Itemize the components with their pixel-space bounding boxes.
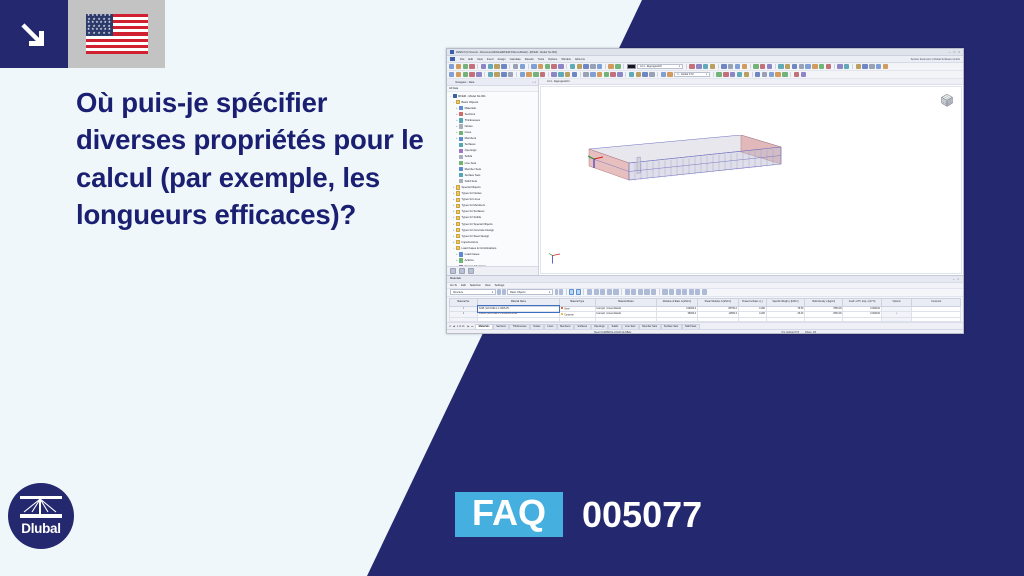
toolbar-button[interactable] <box>597 72 602 77</box>
toolbar-button[interactable] <box>533 72 538 77</box>
concrete-color-chip <box>561 313 564 316</box>
workspace-tab-icon <box>542 80 545 83</box>
menu-item-results[interactable]: Results <box>525 58 534 61</box>
chevron-down-icon[interactable]: ▾ <box>706 73 707 76</box>
table-tab-surfaces[interactable]: Surfaces <box>574 324 591 329</box>
workspace: LC1 - Eigengewicht <box>539 79 963 275</box>
navigator-footer[interactable] <box>447 266 538 275</box>
status-coordinate-system: CS: Global XYZ <box>781 331 799 334</box>
toolbar-button[interactable] <box>531 64 536 69</box>
toolbar-button[interactable] <box>636 72 641 77</box>
main-toolbar-row-1[interactable]: LC1 - Eigengewicht▾ <box>447 63 963 71</box>
toolbar-button[interactable] <box>762 72 767 77</box>
toolbar-button[interactable] <box>869 64 874 69</box>
col-material-model[interactable]: Material Model <box>595 298 656 306</box>
toolbar-separator <box>752 72 753 78</box>
toolbar-button[interactable] <box>753 64 758 69</box>
chevron-down-icon[interactable]: ▾ <box>492 291 493 294</box>
toolbar-button[interactable] <box>767 64 772 69</box>
status-plane: Plane: XZ <box>805 331 816 334</box>
toolbar-button[interactable] <box>520 64 525 69</box>
toolbar-button[interactable] <box>449 64 454 69</box>
toolbar-button[interactable] <box>826 64 831 69</box>
table-tab-line-sets[interactable]: Line Sets <box>622 324 639 329</box>
toolbar-button[interactable] <box>742 64 747 69</box>
status-addons: Steel CAD/BIM E-LOAD GLOBAL <box>594 331 632 334</box>
toolbar-button[interactable] <box>667 72 672 77</box>
folder-node-icon <box>456 185 460 189</box>
toolbar-separator <box>657 72 658 78</box>
toolbar-button[interactable] <box>799 64 804 69</box>
folder-node-icon <box>456 204 460 208</box>
toolbar-separator <box>605 64 606 70</box>
minimize-button[interactable]: – <box>949 50 951 54</box>
toolbar-button[interactable] <box>572 72 577 77</box>
toolbar-button[interactable] <box>551 72 556 77</box>
table-tab-solids[interactable]: Solids <box>608 324 622 329</box>
app-node-icon <box>453 94 457 98</box>
toolbar-button[interactable] <box>703 64 708 69</box>
col-comment[interactable]: Comment <box>912 298 961 306</box>
column-layout-icon[interactable] <box>594 289 599 294</box>
toolbar-button[interactable] <box>615 64 620 69</box>
workspace-tab-label[interactable]: LC1 - Eigengewicht <box>547 80 570 83</box>
menu-item-edit[interactable]: Edit <box>468 58 473 61</box>
toolbar-button[interactable] <box>629 72 634 77</box>
folder-node-icon <box>456 198 460 202</box>
folder-node-icon <box>456 191 460 195</box>
app-titlebar: RFEM 6 [C:\Users\...\Documents\Dlubal\RF… <box>447 49 963 56</box>
toolbar-button[interactable] <box>469 64 474 69</box>
toolbar-button[interactable] <box>456 72 461 77</box>
toolbar-button[interactable] <box>520 72 525 77</box>
toolbar-separator <box>548 72 549 78</box>
menu-item-file[interactable]: File <box>460 58 464 61</box>
row-layout-icon[interactable] <box>600 289 605 294</box>
table-panel-title-text: Materials <box>450 277 461 280</box>
nav-tree-item-label: Materials <box>465 107 476 110</box>
folder-node-icon <box>456 228 460 232</box>
toolbar-button[interactable] <box>735 64 740 69</box>
nav-tree-item-label: Types for Special Objects <box>461 223 492 226</box>
nav-tree-item-label: Lines <box>465 131 472 134</box>
dlubal-truss-icon <box>20 496 62 518</box>
col-modulus-e[interactable]: Modulus of Elast. E [kN/m²] <box>656 298 697 306</box>
rfem-application-window: RFEM 6 [C:\Users\...\Documents\Dlubal\RF… <box>446 48 964 334</box>
col-material-type[interactable]: Material Type <box>559 298 595 306</box>
view-cube-icon[interactable] <box>938 91 956 109</box>
toolbar-separator <box>713 72 714 78</box>
cell-material-model[interactable] <box>595 317 656 322</box>
color-swatch[interactable] <box>627 64 636 68</box>
toolbar-button[interactable] <box>590 72 595 77</box>
grey-node-icon <box>459 155 463 159</box>
nav-tree-item-label: RFEM - Model No.001 <box>458 95 485 98</box>
cell-material-type[interactable] <box>559 317 595 322</box>
cell-bulk-density[interactable] <box>805 317 843 322</box>
toolbar-button[interactable] <box>508 72 513 77</box>
cell-shear-modulus-g[interactable] <box>697 317 738 322</box>
toolbar-button[interactable] <box>696 64 701 69</box>
toolbar-button[interactable] <box>876 64 881 69</box>
folder-node-icon <box>456 216 460 220</box>
toolbar-button[interactable] <box>737 72 742 77</box>
toolbar-button[interactable] <box>570 64 575 69</box>
table-menu-goto[interactable]: Go To <box>450 284 457 287</box>
table-tab-surface-sets[interactable]: Surface Sets <box>661 324 682 329</box>
toolbar-separator <box>625 72 626 78</box>
nav-tree-item-label: Solid Sets <box>465 180 477 183</box>
toolbar-separator <box>509 64 510 70</box>
load-case-combo[interactable]: LC1 - Eigengewicht▾ <box>637 64 683 69</box>
toolbar-button[interactable] <box>837 64 842 69</box>
table-panel-window-controls[interactable]: ⌁ × <box>953 277 960 281</box>
zoom-selection-icon[interactable] <box>569 289 574 294</box>
materials-table-header-row: Material No. Material Name Material Type… <box>450 298 961 306</box>
menubar-account-text: Section Extension | Dlubal Software GmbH <box>911 58 960 61</box>
autofit-icon[interactable] <box>613 289 618 294</box>
app-menubar[interactable]: File Edit View Insert Assign Calculate R… <box>447 56 963 63</box>
grey-node-icon <box>459 124 463 128</box>
navigator-display-button[interactable] <box>459 268 465 274</box>
help-icon[interactable] <box>702 289 707 294</box>
green-node-icon <box>459 131 463 135</box>
col-material-name[interactable]: Material Name <box>478 298 560 306</box>
toolbar-button[interactable] <box>590 64 595 69</box>
menu-item-assign[interactable]: Assign <box>498 58 506 61</box>
record-nav-arrows[interactable]: ⏮ ◀ <box>449 325 455 328</box>
toolbar-button[interactable] <box>481 64 486 69</box>
col-material-no[interactable]: Material No. <box>450 298 478 306</box>
toolbar-separator <box>566 64 567 70</box>
navigator-subtitle-text: All Data <box>449 87 458 90</box>
toolbar-button[interactable] <box>456 64 461 69</box>
nav-tree-item-label: Surfaces <box>465 143 476 146</box>
toolbar-separator <box>834 64 835 70</box>
toolbar-separator <box>580 72 581 78</box>
table-tab-member-sets[interactable]: Member Sets <box>639 324 661 329</box>
toolbar-button[interactable] <box>494 72 499 77</box>
nav-tree-item-label: Types for Nodes <box>461 192 481 195</box>
toolbar-button[interactable] <box>769 72 774 77</box>
table-panel: Materials ⌁ × Go To Edit Selection View … <box>447 275 963 334</box>
toolbar-button[interactable] <box>463 64 468 69</box>
toolbar-button[interactable] <box>649 72 654 77</box>
move-down-icon[interactable] <box>644 289 649 294</box>
toolbar-button[interactable] <box>760 64 765 69</box>
toolbar-button[interactable] <box>642 72 647 77</box>
folder-node-icon <box>456 210 460 214</box>
object-type-value: Structure <box>453 291 463 294</box>
toolbar-button[interactable] <box>819 64 824 69</box>
nav-tree-item-label: Sections <box>465 113 476 116</box>
table-tab-members[interactable]: Members <box>557 324 574 329</box>
page-title: Où puis-je spécifier diverses propriétés… <box>76 84 426 234</box>
faq-badge: FAQ 005077 <box>455 492 702 537</box>
settings-icon[interactable] <box>676 289 681 294</box>
navigator-pin-close-icons[interactable]: ⌁ × <box>532 81 536 84</box>
collapse-icon[interactable]: − <box>449 95 453 98</box>
col-bulk-density[interactable]: Bulk Density α [kg/m³] <box>805 298 843 306</box>
table-tab-openings[interactable]: Openings <box>591 324 608 329</box>
navigator-views-button[interactable] <box>468 268 474 274</box>
purple-node-icon <box>459 149 463 153</box>
toolbar-button[interactable] <box>610 72 615 77</box>
toolbar-button[interactable] <box>488 72 493 77</box>
toolbar-button[interactable] <box>775 72 780 77</box>
toolbar-separator <box>790 72 791 78</box>
toolbar-button[interactable] <box>862 64 867 69</box>
move-up-icon[interactable] <box>638 289 643 294</box>
last-record-icon[interactable]: ⏭ <box>471 325 473 328</box>
table-row[interactable]: 3 <box>450 317 961 322</box>
next-record-icon[interactable]: ▶ <box>467 325 469 328</box>
toolbar-button[interactable] <box>469 72 474 77</box>
menu-logo-icon <box>450 57 455 61</box>
filter-combo[interactable]: Basic Objects ▾ <box>507 289 553 294</box>
toolbar-button[interactable] <box>583 64 588 69</box>
export-icon[interactable] <box>651 289 656 294</box>
cell-specific-weight[interactable] <box>766 317 804 322</box>
toolbar-button[interactable] <box>583 72 588 77</box>
navigator-header: Navigator - Data ⌁ × <box>447 79 538 86</box>
record-pager: 1 of 13 <box>457 325 465 328</box>
faq-number: 005077 <box>582 497 702 533</box>
delete-row-icon[interactable] <box>625 289 630 294</box>
col-thermal-coeff[interactable]: Coeff. of Th. Exp. α [1/°C] <box>843 298 881 306</box>
refresh-icon[interactable] <box>689 289 694 294</box>
paste-icon[interactable] <box>669 289 674 294</box>
object-type-combo[interactable]: Structure ▾ <box>450 289 496 294</box>
toolbar-button[interactable] <box>801 72 806 77</box>
first-record-icon[interactable]: ⏮ <box>449 325 451 328</box>
table-tab-thicknesses[interactable]: Thicknesses <box>509 324 530 329</box>
toolbar-button[interactable] <box>883 64 888 69</box>
toolbar-button[interactable] <box>463 72 468 77</box>
nav-tree-item-label: Line Sets <box>465 162 476 165</box>
nav-tree-item-label: Types for Steel Design <box>461 235 489 238</box>
us-flag-icon: ★★★★★★ ★★★★★ ★★★★★★ ★★★★★ ★★★★★★ ★★★★★ ★… <box>68 0 165 68</box>
filter-prev-button[interactable] <box>555 289 559 294</box>
toolbar-button[interactable] <box>728 64 733 69</box>
toolbar-button[interactable] <box>856 64 861 69</box>
navigator-tree[interactable]: −RFEM - Model No.001−Basic Objects+Mater… <box>447 92 538 266</box>
print-icon[interactable] <box>695 289 700 294</box>
nav-tree-item-label: Imperfections <box>461 241 478 244</box>
window-controls[interactable]: – □ × <box>949 50 960 54</box>
cell-material-no[interactable]: 3 <box>450 317 478 322</box>
red-node-icon <box>459 112 463 116</box>
toolbar-button[interactable] <box>785 64 790 69</box>
table-menu-view[interactable]: View <box>485 284 491 287</box>
app-icon <box>450 50 454 54</box>
toolbar-button[interactable] <box>716 72 721 77</box>
table-tab-nodes[interactable]: Nodes <box>530 324 544 329</box>
table-grid-icon[interactable] <box>587 289 592 294</box>
toolbar-button[interactable] <box>449 72 454 77</box>
green-node-icon <box>459 258 463 262</box>
menu-item-tools[interactable]: Tools <box>538 58 544 61</box>
col-poissons-ratio[interactable]: Poisson's Ratio ν [-] <box>738 298 766 306</box>
freeze-panes-icon[interactable] <box>607 289 612 294</box>
green-node-icon <box>459 161 463 165</box>
toolbar-button[interactable] <box>710 64 715 69</box>
table-tab-materials[interactable]: Materials <box>475 324 493 329</box>
toolbar-button[interactable] <box>744 72 749 77</box>
materials-table[interactable]: Material No. Material Name Material Type… <box>449 298 961 323</box>
toolbar-button[interactable] <box>558 64 563 69</box>
col-options[interactable]: Options <box>881 298 912 306</box>
toolbar-separator <box>528 64 529 70</box>
nav-tree-item-label: Surface Sets <box>465 174 481 177</box>
table-menu-selection[interactable]: Selection <box>470 284 481 287</box>
navigator-icon <box>449 80 452 83</box>
menu-item-window[interactable]: Window <box>561 58 571 61</box>
materials-grid-wrapper: Material No. Material Name Material Type… <box>447 297 963 323</box>
nav-tree-item-label: Thicknesses <box>465 119 480 122</box>
cell-poissons-ratio[interactable] <box>738 317 766 322</box>
main-toolbar-row-2[interactable]: 1 - Global XYZ▾ <box>447 71 963 79</box>
navigator-data-button[interactable] <box>450 268 456 274</box>
toolbar-button[interactable] <box>526 72 531 77</box>
filter-value: Basic Objects <box>510 291 525 294</box>
toolbar-button[interactable] <box>608 64 613 69</box>
nav-tree-item-label: Nodes <box>465 125 473 128</box>
nav-tree-item-label: Special Objects <box>461 186 480 189</box>
copy-icon[interactable] <box>662 289 667 294</box>
nav-tree-item-label: Members <box>465 137 476 140</box>
close-button[interactable]: × <box>958 50 960 54</box>
filter-funnel-icon[interactable] <box>682 289 687 294</box>
table-menu-settings[interactable]: Settings <box>495 284 505 287</box>
table-panel-toolbar[interactable]: Structure ▾ Basic Objects ▾ <box>447 289 963 297</box>
table-tab-solid-sets[interactable]: Solid Sets <box>682 324 700 329</box>
nav-tree-item-label: Basic Objects <box>461 101 478 104</box>
nav-tree-item-label: Types for Solids <box>461 216 481 219</box>
nav-tree-item-label: Load Cases & Combinations <box>461 247 496 250</box>
cell-material-name[interactable] <box>478 317 560 322</box>
toolbar-button[interactable] <box>538 64 543 69</box>
toolbar-separator <box>775 64 776 70</box>
folder-node-icon <box>456 222 460 226</box>
toolbar-button[interactable] <box>476 72 481 77</box>
workspace-tabbar[interactable]: LC1 - Eigengewicht <box>539 79 963 85</box>
toolbar-button[interactable] <box>513 64 518 69</box>
filter-next-button[interactable] <box>559 289 563 294</box>
cell-modulus-e[interactable] <box>656 317 697 322</box>
toolbar-button[interactable] <box>545 64 550 69</box>
table-menu-edit[interactable]: Edit <box>461 284 466 287</box>
toolbar-button[interactable] <box>661 72 666 77</box>
prev-record-icon[interactable]: ◀ <box>453 325 455 328</box>
menu-item-options[interactable]: Options <box>548 58 557 61</box>
toolbar-button[interactable] <box>723 72 728 77</box>
toolbar-button[interactable] <box>565 72 570 77</box>
toolbar-button[interactable] <box>604 72 609 77</box>
menu-item-view[interactable]: View <box>477 58 483 61</box>
nav-tree-item-label: Solids <box>465 155 473 158</box>
toolbar-button[interactable] <box>488 64 493 69</box>
cell-comment[interactable] <box>912 317 961 322</box>
toolbar-button[interactable] <box>494 64 499 69</box>
nav-tree-item-label: Member Sets <box>465 168 481 171</box>
steel-color-chip <box>561 307 564 310</box>
app-statusbar: Steel CAD/BIM E-LOAD GLOBAL CS: Global X… <box>447 329 963 334</box>
grey-node-icon <box>459 179 463 183</box>
toolbar-button[interactable] <box>551 64 556 69</box>
toolbar-button[interactable] <box>812 64 817 69</box>
toolbar-button[interactable] <box>794 72 799 77</box>
col-specific-weight[interactable]: Specific Weight γ [kN/m³] <box>766 298 804 306</box>
maximize-button[interactable]: □ <box>953 50 955 54</box>
beam-model-3d[interactable] <box>583 135 791 197</box>
toolbar-button[interactable] <box>844 64 849 69</box>
select-in-graphic-icon[interactable] <box>576 289 581 294</box>
toolbar-button[interactable] <box>617 72 622 77</box>
chevron-down-icon[interactable]: ▾ <box>549 291 550 294</box>
nav-tree-item-label: Types for Concrete Design <box>461 229 494 232</box>
toolbar-button[interactable] <box>501 64 506 69</box>
menu-item-addons[interactable]: Add-ons <box>575 58 585 61</box>
toolbar-button[interactable] <box>792 64 797 69</box>
app-title-text: RFEM 6 [C:\Users\...\Documents\Dlubal\RF… <box>456 51 557 54</box>
coordinate-system-combo-value: 1 - Global XYZ <box>677 73 693 76</box>
toolbar-separator <box>484 72 485 78</box>
arrow-down-right-icon <box>0 0 68 68</box>
cell-thermal-coeff[interactable] <box>843 317 881 322</box>
app-body: Navigator - Data ⌁ × All Data −RFEM - Mo… <box>447 79 963 275</box>
dlubal-logo: Dlubal <box>8 483 74 549</box>
col-shear-modulus-g[interactable]: Shear Modulus G [kN/m²] <box>697 298 738 306</box>
toolbar-button[interactable] <box>805 64 810 69</box>
toolbar-separator <box>477 64 478 70</box>
nav-tree-item-label: Types for Surfaces <box>461 210 484 213</box>
model-canvas[interactable] <box>540 86 962 274</box>
coordinate-system-combo[interactable]: 1 - Global XYZ▾ <box>674 72 710 77</box>
toolbar-button[interactable] <box>558 72 563 77</box>
menu-item-calculate[interactable]: Calculate <box>510 58 521 61</box>
table-tab-sections[interactable]: Sections <box>493 324 509 329</box>
chevron-down-icon[interactable]: ▾ <box>679 65 680 68</box>
toolbar-button[interactable] <box>755 72 760 77</box>
toolbar-button[interactable] <box>689 64 694 69</box>
insert-row-icon[interactable] <box>631 289 636 294</box>
toolbar-separator <box>516 72 517 78</box>
record-nav-arrows-right[interactable]: ▶ ⏭ <box>467 325 473 328</box>
blue-node-icon <box>459 167 463 171</box>
toolbar-button[interactable] <box>540 72 545 77</box>
cell-options[interactable] <box>881 317 912 322</box>
navigator-panel: Navigator - Data ⌁ × All Data −RFEM - Mo… <box>447 79 539 275</box>
blue-node-icon <box>459 106 463 110</box>
axis-triad-icon <box>548 251 562 265</box>
toolbar-button[interactable] <box>778 64 783 69</box>
menu-item-insert[interactable]: Insert <box>487 58 494 61</box>
dlubal-wordmark: Dlubal <box>21 521 60 536</box>
nav-tree-item-label: Types for Members <box>461 204 485 207</box>
toolbar-button[interactable] <box>782 72 787 77</box>
toolbar-separator <box>750 64 751 70</box>
toolbar-button[interactable] <box>730 72 735 77</box>
toolbar-button[interactable] <box>597 64 602 69</box>
toolbar-separator <box>852 64 853 70</box>
object-nav-next-button[interactable] <box>502 289 506 294</box>
table-tab-lines[interactable]: Lines <box>544 324 557 329</box>
toolbar-button[interactable] <box>721 64 726 69</box>
object-nav-prev-button[interactable] <box>497 289 501 294</box>
toolbar-button[interactable] <box>501 72 506 77</box>
toolbar-button[interactable] <box>577 64 582 69</box>
